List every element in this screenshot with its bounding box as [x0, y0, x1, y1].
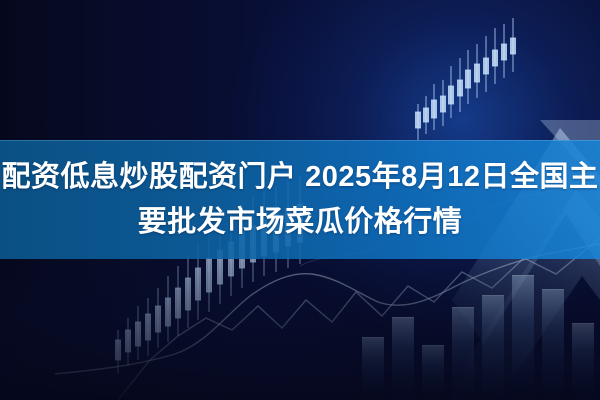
banner-image: 配资低息炒股配资门户 2025年8月12日全国主 要批发市场菜瓜价格行情	[0, 0, 600, 400]
title-line-2: 要批发市场菜瓜价格行情	[138, 200, 463, 245]
banner-title: 配资低息炒股配资门户 2025年8月12日全国主 要批发市场菜瓜价格行情	[0, 140, 600, 259]
title-line-1: 配资低息炒股配资门户 2025年8月12日全国主	[2, 155, 599, 200]
